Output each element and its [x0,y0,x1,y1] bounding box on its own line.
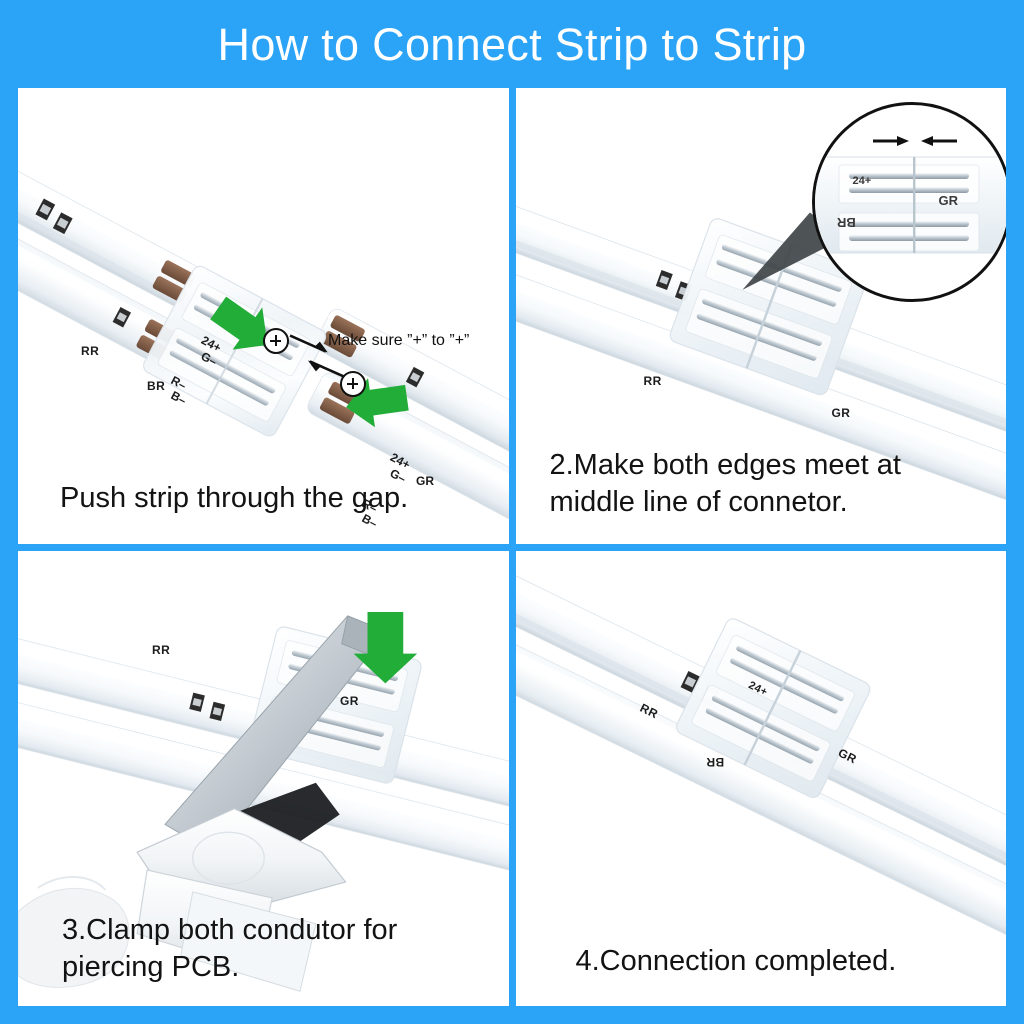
panel-4-svg [516,551,1007,1007]
panel-step-2: GR BR 24+ RR GR 2.Make both edges meet a… [516,88,1007,544]
panel-4-illustration: RR BR GR 24+ [516,551,1007,1007]
panel-1-caption: Push strip through the gap. [60,480,489,517]
strip-label-rr: RR [81,344,99,358]
magnifier-label-24plus: 24+ [853,175,872,187]
magnifier-label-gr: GR [939,193,959,208]
page-title: How to Connect Strip to Strip [218,22,807,67]
magnifier-label-br: BR [837,215,856,230]
plus-marker-upper [263,328,289,354]
panel-step-4: RR BR GR 24+ 4.Connection completed. [516,551,1007,1007]
panel-2-caption: 2.Make both edges meet at middle line of… [550,447,987,521]
strip-label-gr-p2: GR [832,406,851,420]
panel-1-illustration: Make sure ”+” to ”+” RR BR 24+ G– R– B– … [18,88,509,544]
strip-label-rr-p3: RR [152,643,170,657]
strip-label-br: BR [147,379,165,393]
magnified-connector-view: GR BR 24+ [812,102,1007,302]
panel-1-svg [18,88,509,544]
panel-step-3: RR GR 3.Clamp both condutor for piercing… [18,551,509,1007]
plus-marker-lower [340,371,366,397]
infographic-root: How to Connect Strip to Strip [0,0,1024,1024]
strip-label-gr-p3: GR [340,694,359,708]
strip-label-br-p4: BR [706,755,724,769]
title-bar: How to Connect Strip to Strip [0,0,1024,88]
strip-label-rr-p2: RR [644,374,662,388]
panel-grid: Make sure ”+” to ”+” RR BR 24+ G– R– B– … [18,88,1006,1006]
panel-4-caption: 4.Connection completed. [576,943,987,980]
arrow-right-icon [873,136,909,146]
panel-step-1: Make sure ”+” to ”+” RR BR 24+ G– R– B– … [18,88,509,544]
magnifier-svg [815,105,1007,302]
polarity-note: Make sure ”+” to ”+” [328,332,469,350]
arrow-left-icon [921,136,957,146]
panel-3-caption: 3.Clamp both condutor for piercing PCB. [62,912,489,986]
